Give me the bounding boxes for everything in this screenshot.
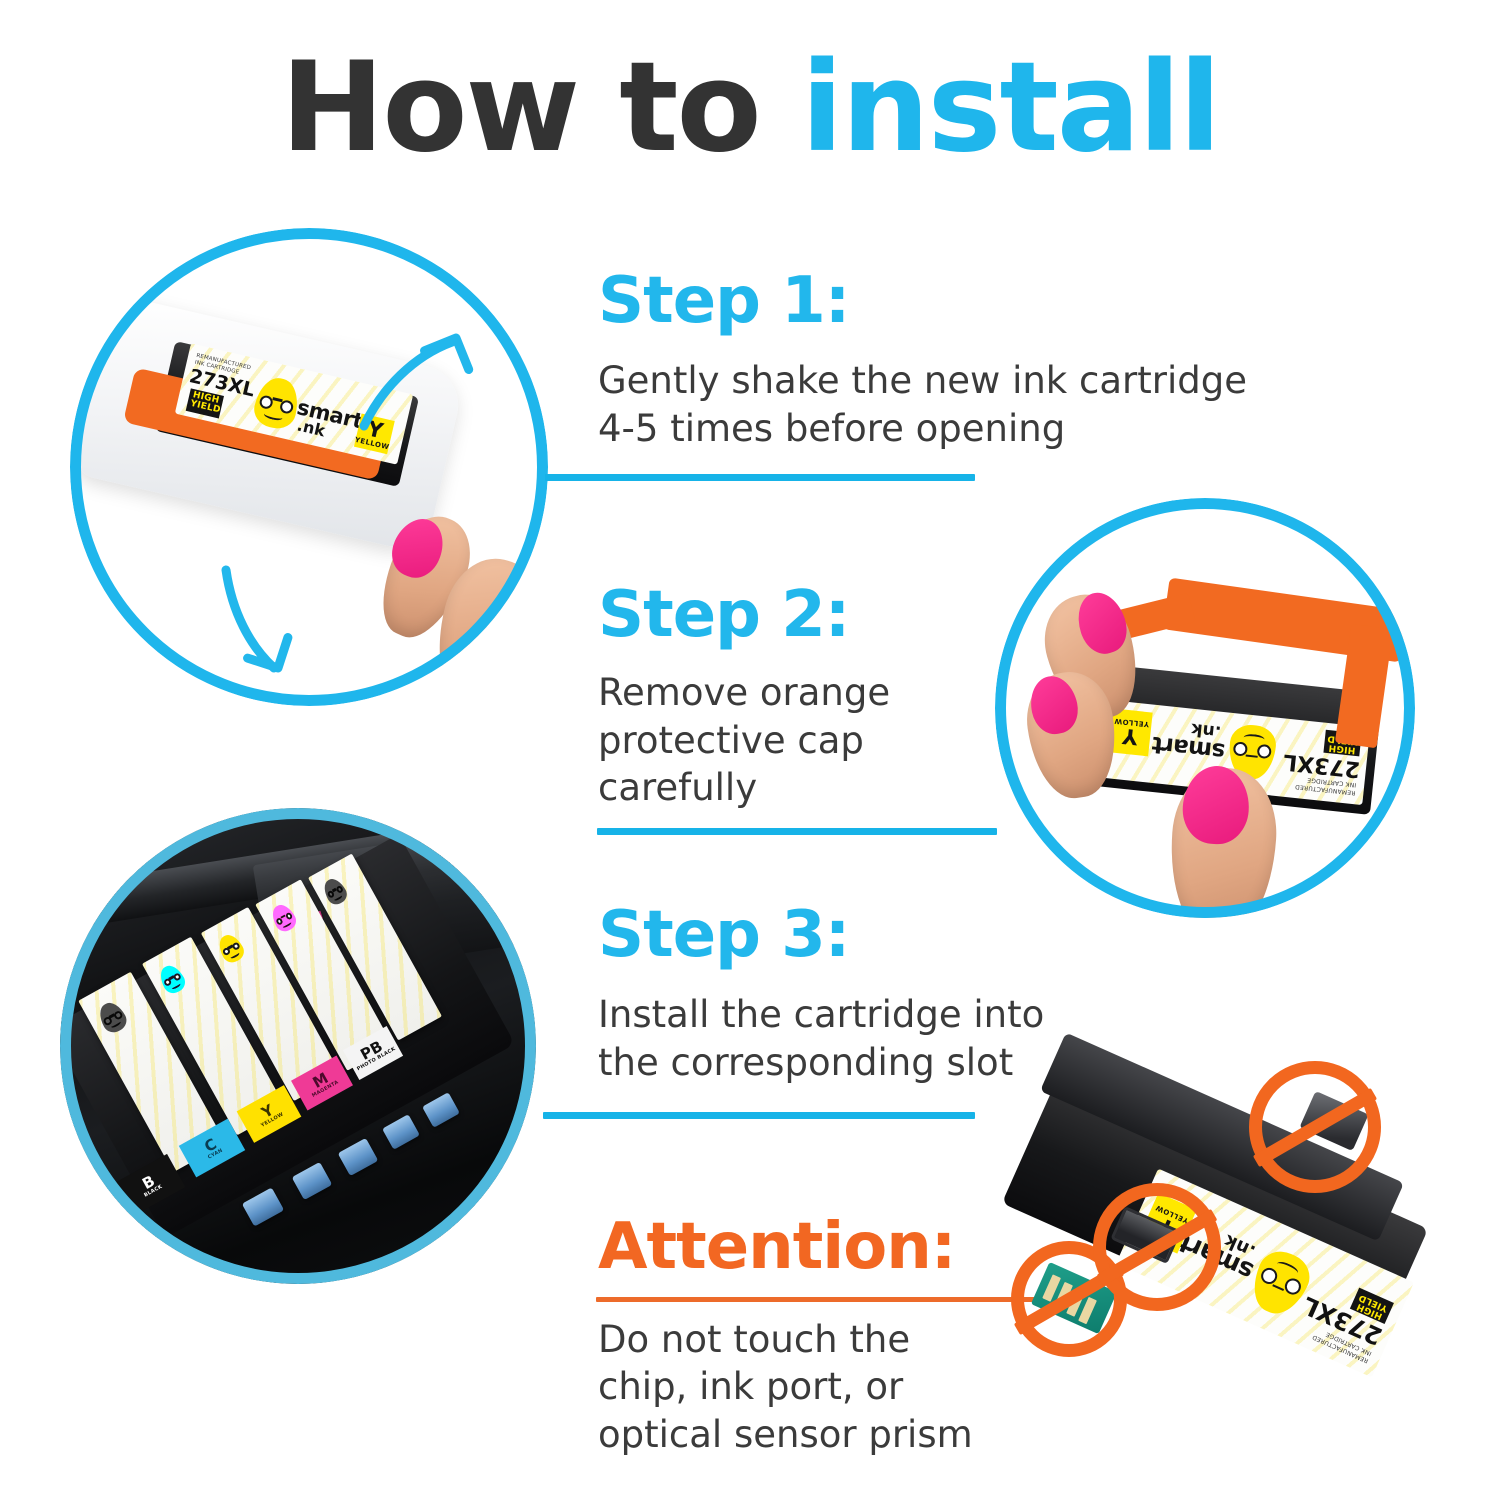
release-button-1 (242, 1187, 284, 1226)
color-badge-name: YELLOW (354, 437, 390, 452)
step-2-photo: REMANUFACTURED INK CARTRIDGE 273XL HIGH … (995, 498, 1415, 918)
shake-arrow-down-icon (212, 564, 322, 684)
step-1-divider (545, 474, 975, 481)
attention-divider (596, 1297, 1036, 1302)
page-title-part2: install (801, 36, 1220, 180)
attention-heading: Attention: (598, 1214, 955, 1281)
infographic-page: How to install REMANUFACTURED INK CARTR (0, 0, 1500, 1500)
step-2-divider (597, 828, 997, 835)
page-title: How to install (0, 46, 1500, 170)
color-badge-name-inverted: YELLOW (1114, 717, 1150, 728)
brand-name-bottom-inverted: .nk (1190, 719, 1222, 742)
step-1-photo-scene: REMANUFACTURED INK CARTRIDGE 273XL HIGH … (70, 228, 548, 706)
step-3-heading: Step 3: (598, 902, 1044, 969)
step-1-photo: REMANUFACTURED INK CARTRIDGE 273XL HIGH … (70, 228, 548, 706)
step-2-text-block: Step 2: Remove orange protective cap car… (598, 582, 890, 811)
attention-body-block: Do not touch the chip, ink port, or opti… (598, 1316, 973, 1458)
step-1-heading: Step 1: (598, 268, 1247, 335)
release-button-2 (292, 1162, 333, 1200)
release-button-5 (422, 1092, 460, 1128)
attention-photo: REMANUFACTURED INK CARTRIDGE 273XL HIGH … (975, 1045, 1475, 1475)
step-3-divider (543, 1112, 975, 1119)
attention-text-block: Attention: (598, 1214, 955, 1281)
release-button-4 (382, 1114, 420, 1150)
page-title-part1: How to (281, 36, 801, 180)
release-button-3 (338, 1138, 379, 1176)
shake-arrow-up-icon (356, 328, 476, 438)
step-1-body: Gently shake the new ink cartridge 4-5 t… (598, 357, 1247, 452)
step-2-photo-scene: REMANUFACTURED INK CARTRIDGE 273XL HIGH … (995, 498, 1415, 918)
step-3-photo: BK C Y M PBK 273XL B BLACK (60, 808, 536, 1284)
step-3-photo-scene: BK C Y M PBK 273XL B BLACK (60, 808, 536, 1284)
step-2-body: Remove orange protective cap carefully (598, 669, 890, 811)
step-1-text-block: Step 1: Gently shake the new ink cartrid… (598, 268, 1247, 452)
color-badge-letter-inverted: Y (1121, 725, 1138, 747)
step-2-heading: Step 2: (598, 582, 890, 649)
smart-ink-mascot-icon (251, 374, 303, 432)
attention-body: Do not touch the chip, ink port, or opti… (598, 1316, 973, 1458)
